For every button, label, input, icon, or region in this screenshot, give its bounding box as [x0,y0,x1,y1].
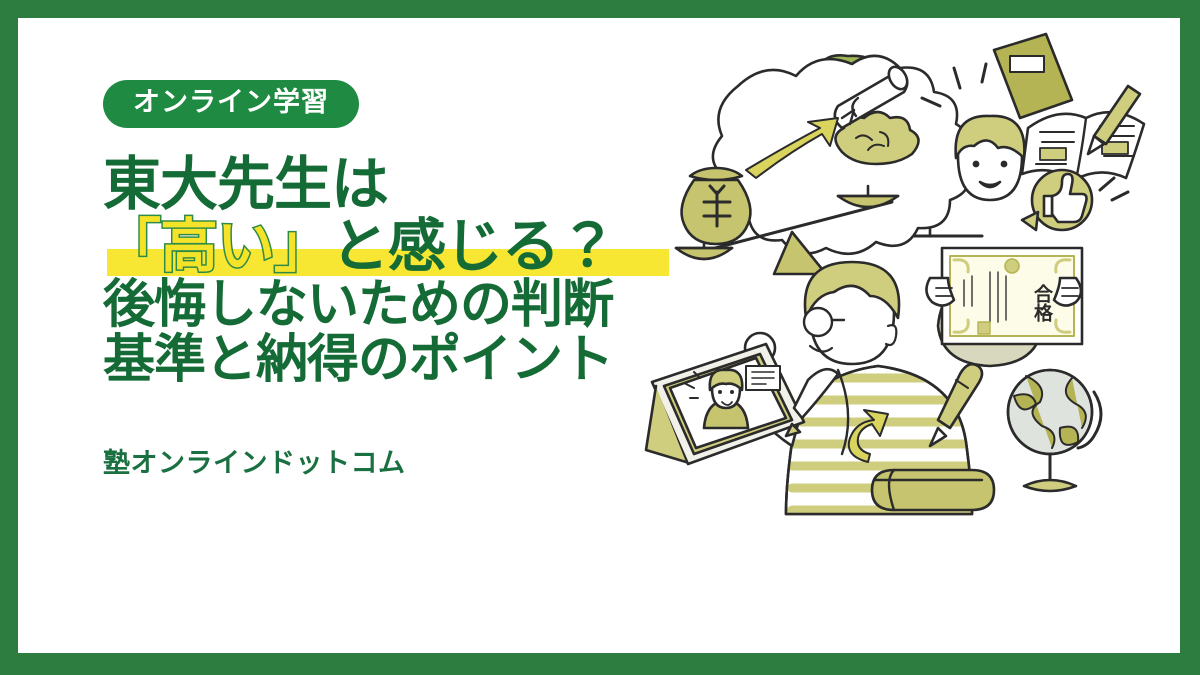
banner-canvas: オンライン学習 東大先生は 「高い」と感じる？ 後悔しないための判断 基準と納得… [18,18,1180,653]
headline-accent-quote: 「高い」 [103,214,331,279]
tablet-online-lesson [646,344,804,464]
notebook-icon [994,34,1072,118]
category-badge: オンライン学習 [103,80,359,128]
text-column: オンライン学習 東大先生は 「高い」と感じる？ 後悔しないための判断 基準と納得… [103,80,663,480]
headline-line-2: 「高い」と感じる？ [103,216,663,278]
certificate-label: 合格 [1031,284,1053,323]
hero-illustration: 東大大学 [642,26,1172,546]
page-title: 東大先生は 「高い」と感じる？ 後悔しないための判断 基準と納得のポイント [103,154,663,389]
headline-line-4: 基準と納得のポイント [103,333,663,389]
illustration-svg: 東大大学 [642,26,1172,546]
thumbs-up-bubble [1022,170,1092,230]
headline-line-1: 東大先生は [103,154,663,216]
brand-name: 塾オンラインドットコム [103,441,663,480]
open-book-icon [1022,112,1144,180]
banner-frame: オンライン学習 東大先生は 「高い」と感じる？ 後悔しないための判断 基準と納得… [0,0,1200,675]
pencil-case-icon [872,470,994,510]
globe-icon [1008,370,1101,491]
headline-line-3: 後悔しないための判断 [103,278,663,334]
headline-line-2-rest: と感じる？ [331,214,616,279]
